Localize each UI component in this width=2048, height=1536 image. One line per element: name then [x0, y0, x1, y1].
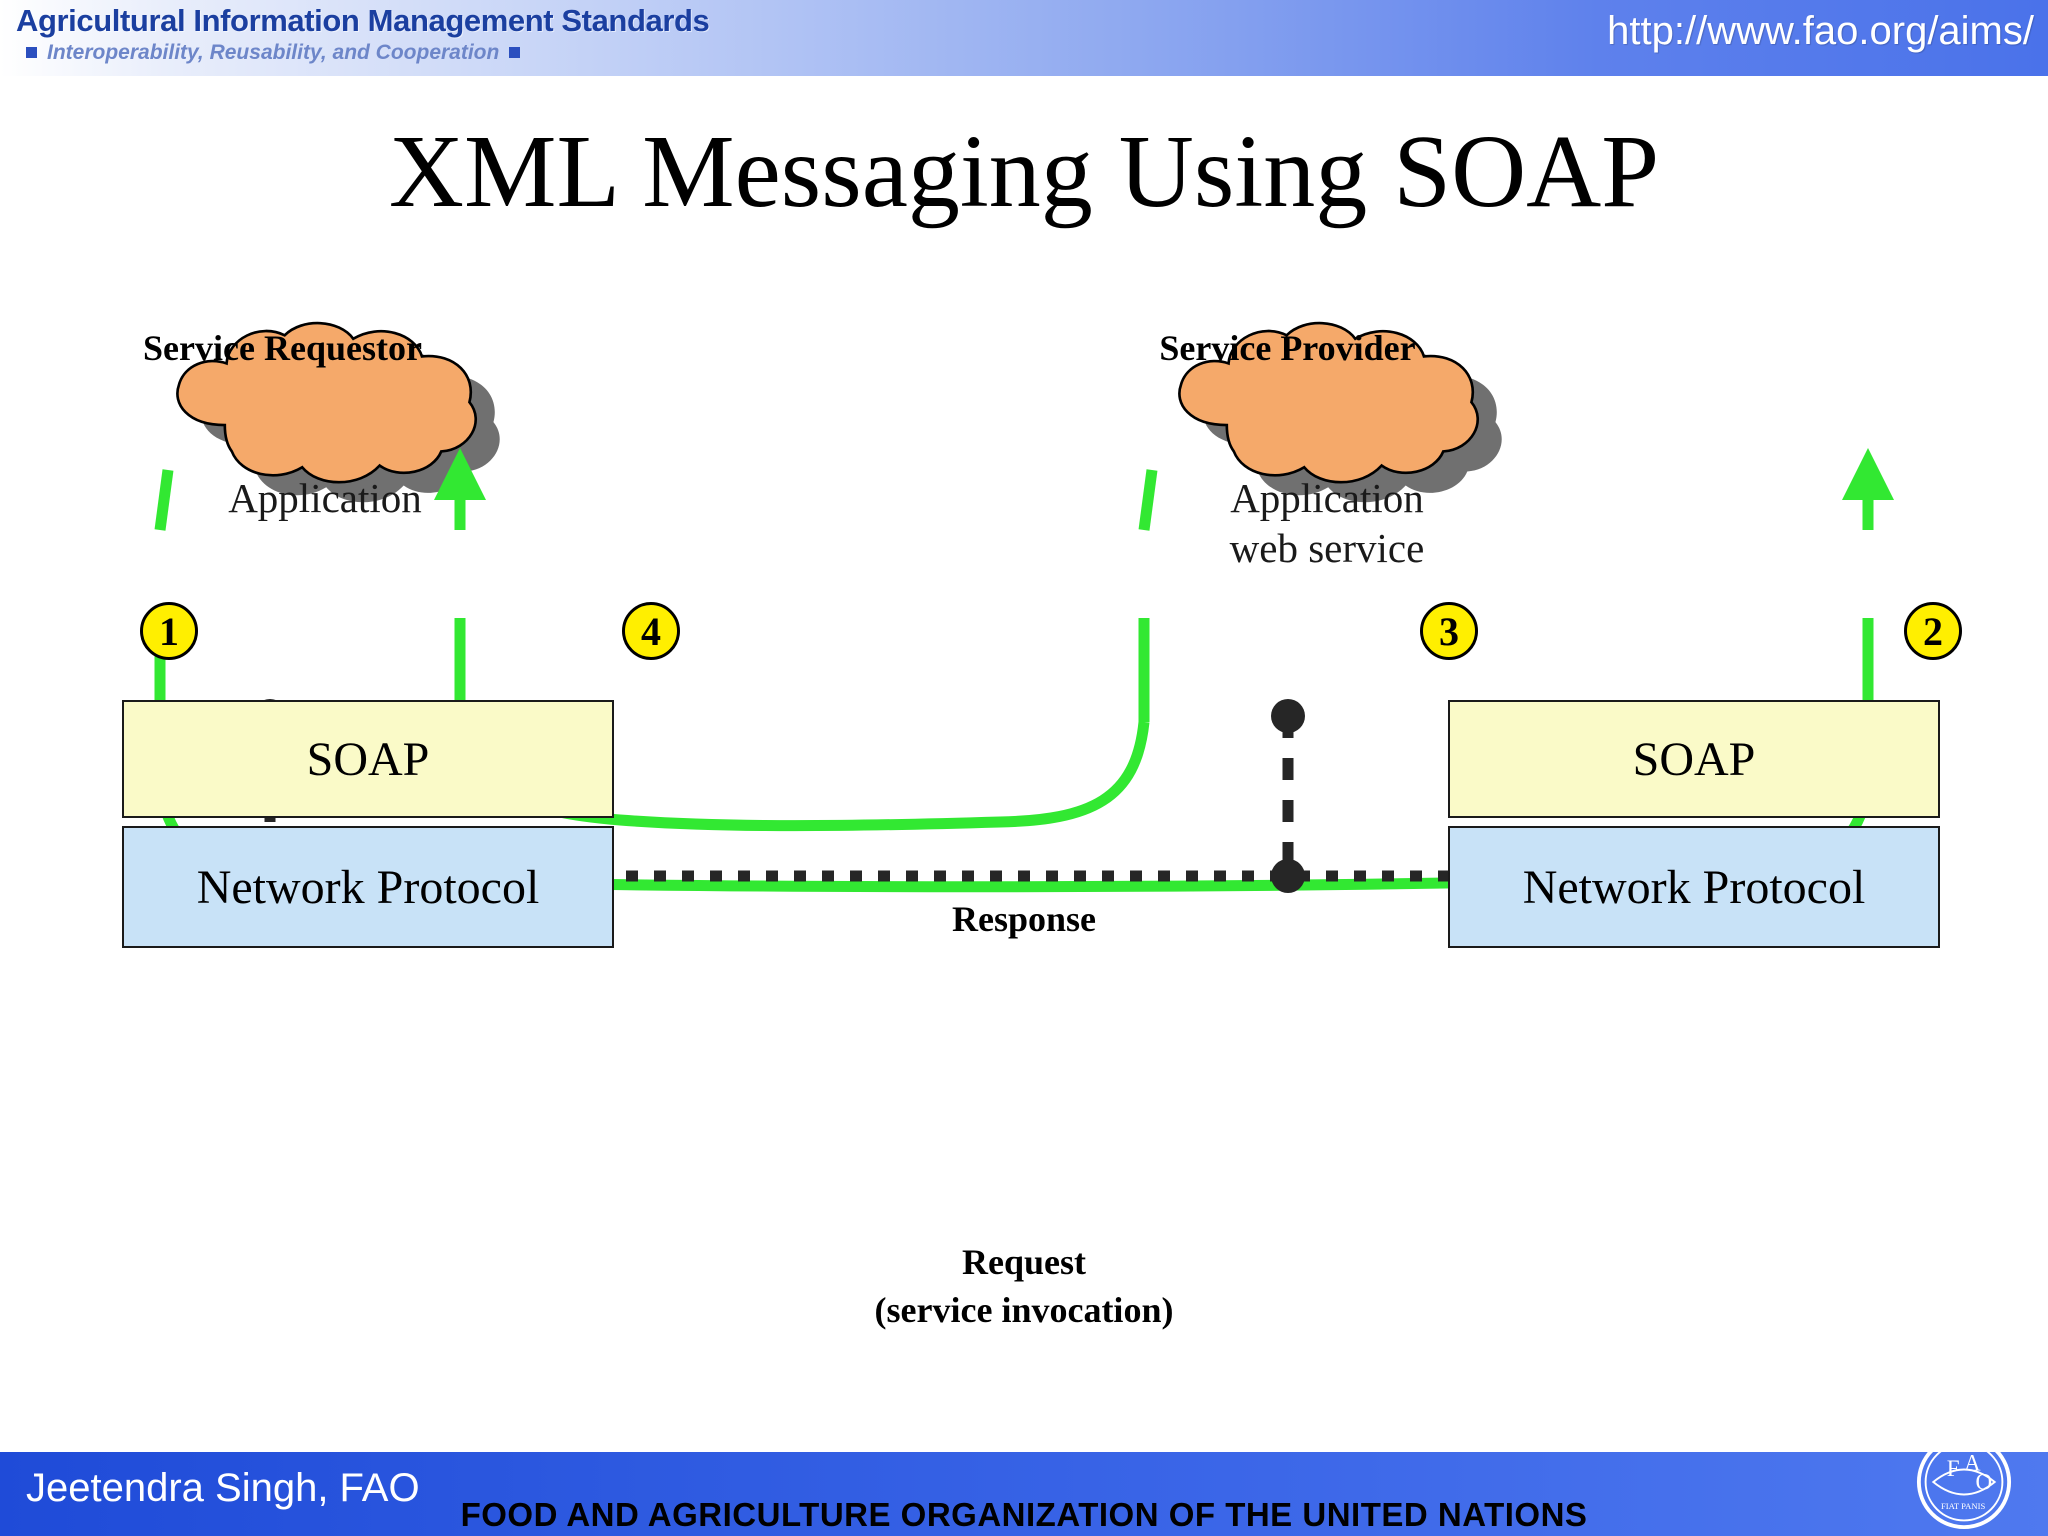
flow-lines — [158, 470, 1870, 887]
footer-organization: FOOD AND AGRICULTURE ORGANIZATION OF THE… — [0, 1496, 2048, 1534]
flow-arrowheads — [434, 448, 1894, 500]
service-requestor-label: Service Requestor — [95, 327, 470, 369]
svg-text:FIAT PANIS: FIAT PANIS — [1941, 1501, 1986, 1511]
request-label: Request (service invocation) — [0, 1238, 2048, 1334]
response-label: Response — [0, 895, 2048, 943]
soap-messaging-diagram: Service Requestor Service Provider Appli… — [0, 0, 2048, 1460]
fao-logo-icon: F A O FIAT PANIS — [1916, 1434, 2012, 1530]
left-soap-box[interactable]: SOAP — [122, 700, 614, 818]
step-badge-1[interactable]: 1 — [140, 602, 198, 660]
right-cloud-label: Application web service — [1172, 473, 1482, 573]
node-dot-right-upper — [1271, 699, 1305, 733]
step-badge-3[interactable]: 3 — [1420, 602, 1478, 660]
step-badge-2[interactable]: 2 — [1904, 602, 1962, 660]
right-soap-label: SOAP — [1633, 732, 1756, 787]
left-soap-label: SOAP — [307, 732, 430, 787]
arrow-up-right-step2 — [1842, 448, 1894, 500]
flow-right-step3-segment — [1144, 470, 1152, 530]
node-dot-right-bus — [1271, 859, 1305, 893]
service-provider-label: Service Provider — [1100, 327, 1475, 369]
step-badge-4[interactable]: 4 — [622, 602, 680, 660]
svg-text:O: O — [1976, 1469, 1993, 1495]
right-soap-box[interactable]: SOAP — [1448, 700, 1940, 818]
page-footer: Jeetendra Singh, FAO FOOD AND AGRICULTUR… — [0, 1452, 2048, 1536]
flow-left-step1-segment — [160, 470, 168, 530]
left-cloud-label: Application — [170, 473, 480, 523]
svg-text:F: F — [1947, 1455, 1960, 1481]
